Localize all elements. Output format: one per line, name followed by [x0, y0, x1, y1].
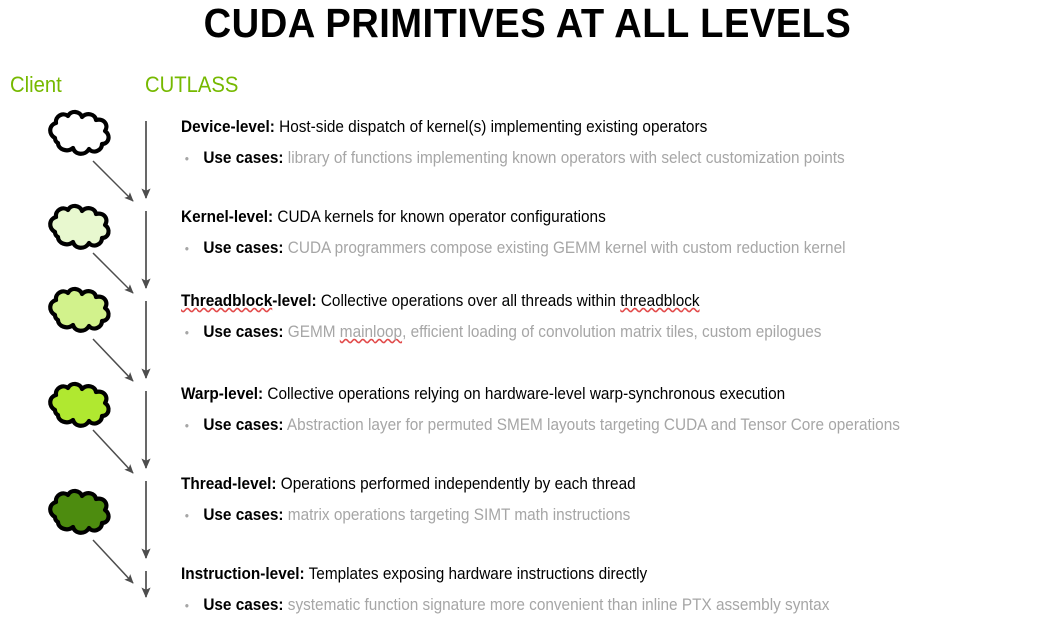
- level-lead-instruction: Instruction-level:: [181, 565, 305, 583]
- bullet-icon: •: [181, 238, 203, 260]
- misspelled-word-threadblock: threadblock: [620, 292, 699, 310]
- level-block-thread: Thread-level: Operations performed indep…: [181, 473, 1049, 527]
- level-lead-threadblock: Threadblock: [181, 292, 272, 310]
- usecase-row-kernel: • Use cases: CUDA programmers compose ex…: [181, 237, 988, 260]
- bullet-icon: •: [181, 595, 203, 617]
- level-description-threadblock-pre: Collective operations over all threads w…: [317, 292, 621, 310]
- bullet-icon: •: [181, 322, 203, 344]
- bullet-icon: •: [181, 415, 203, 437]
- usecase-text-threadblock: Use cases: GEMM mainloop, efficient load…: [203, 321, 821, 343]
- level-heading-device: Device-level: Host-side dispatch of kern…: [181, 116, 988, 138]
- level-block-threadblock: Threadblock-level: Collective operations…: [181, 290, 1049, 344]
- usecase-text-kernel: Use cases: CUDA programmers compose exis…: [203, 237, 845, 259]
- level-heading-threadblock: Threadblock-level: Collective operations…: [181, 290, 988, 312]
- usecase-row-device: • Use cases: library of functions implem…: [181, 147, 988, 170]
- misspelled-word-mainloop: mainloop: [340, 323, 402, 341]
- usecase-row-warp: • Use cases: Abstraction layer for permu…: [181, 414, 988, 437]
- usecase-label-warp: Use cases:: [203, 416, 283, 434]
- cloud-icon-threadblock: [50, 289, 108, 331]
- level-description-device: Host-side dispatch of kernel(s) implemen…: [275, 118, 707, 136]
- bullet-icon: •: [181, 505, 203, 527]
- level-block-kernel: Kernel-level: CUDA kernels for known ope…: [181, 206, 1049, 260]
- usecase-body-pre: GEMM: [284, 323, 340, 341]
- level-lead-kernel: Kernel-level:: [181, 208, 273, 226]
- cloud-icon-kernel: [50, 206, 108, 248]
- usecase-body-instruction: systematic function signature more conve…: [284, 596, 830, 614]
- level-heading-kernel: Kernel-level: CUDA kernels for known ope…: [181, 206, 988, 228]
- level-description-thread: Operations performed independently by ea…: [277, 475, 636, 493]
- level-lead-device: Device-level:: [181, 118, 275, 136]
- usecase-text-thread: Use cases: matrix operations targeting S…: [203, 504, 630, 526]
- level-heading-thread: Thread-level: Operations performed indep…: [181, 473, 988, 495]
- usecase-body-threadblock: GEMM mainloop, efficient loading of conv…: [284, 323, 822, 341]
- usecase-row-threadblock: • Use cases: GEMM mainloop, efficient lo…: [181, 321, 988, 344]
- column-header-client: Client: [10, 72, 62, 98]
- level-block-device: Device-level: Host-side dispatch of kern…: [181, 116, 1049, 170]
- level-heading-warp: Warp-level: Collective operations relyin…: [181, 383, 988, 405]
- usecase-label-instruction: Use cases:: [203, 596, 283, 614]
- client-to-cutlass-arrows: [93, 161, 133, 583]
- usecase-body-post: , efficient loading of convolution matri…: [402, 323, 821, 341]
- level-lead-thread: Thread-level:: [181, 475, 277, 493]
- usecase-body-kernel: CUDA programmers compose existing GEMM k…: [284, 239, 846, 257]
- usecase-text-device: Use cases: library of functions implemen…: [203, 147, 844, 169]
- level-heading-instruction: Instruction-level: Templates exposing ha…: [181, 563, 988, 585]
- bullet-icon: •: [181, 148, 203, 170]
- usecase-label-thread: Use cases:: [203, 506, 283, 524]
- cloud-icon-thread: [50, 491, 108, 533]
- usecase-row-thread: • Use cases: matrix operations targeting…: [181, 504, 988, 527]
- usecase-label-device: Use cases:: [203, 149, 283, 167]
- level-lead-warp: Warp-level:: [181, 385, 263, 403]
- usecase-label-kernel: Use cases:: [203, 239, 283, 257]
- usecase-body-thread: matrix operations targeting SIMT math in…: [284, 506, 631, 524]
- level-description-warp: Collective operations relying on hardwar…: [263, 385, 785, 403]
- usecase-text-warp: Use cases: Abstraction layer for permute…: [203, 414, 900, 436]
- level-block-instruction: Instruction-level: Templates exposing ha…: [181, 563, 1049, 617]
- usecase-body-device: library of functions implementing known …: [284, 149, 845, 167]
- level-block-warp: Warp-level: Collective operations relyin…: [181, 383, 1049, 437]
- level-description-instruction: Templates exposing hardware instructions…: [305, 565, 648, 583]
- usecase-body-warp: Abstraction layer for permuted SMEM layo…: [284, 416, 900, 434]
- column-header-cutlass: CUTLASS: [145, 72, 238, 98]
- cloud-icon-device: [50, 112, 108, 154]
- usecase-text-instruction: Use cases: systematic function signature…: [203, 594, 829, 616]
- usecase-label-threadblock: Use cases:: [203, 323, 283, 341]
- level-description-kernel: CUDA kernels for known operator configur…: [273, 208, 606, 226]
- cloud-icon-warp: [50, 384, 108, 426]
- page-title: CUDA PRIMITIVES AT ALL LEVELS: [37, 0, 1018, 46]
- usecase-row-instruction: • Use cases: systematic function signatu…: [181, 594, 988, 617]
- level-lead-suffix-threadblock: -level:: [272, 292, 316, 310]
